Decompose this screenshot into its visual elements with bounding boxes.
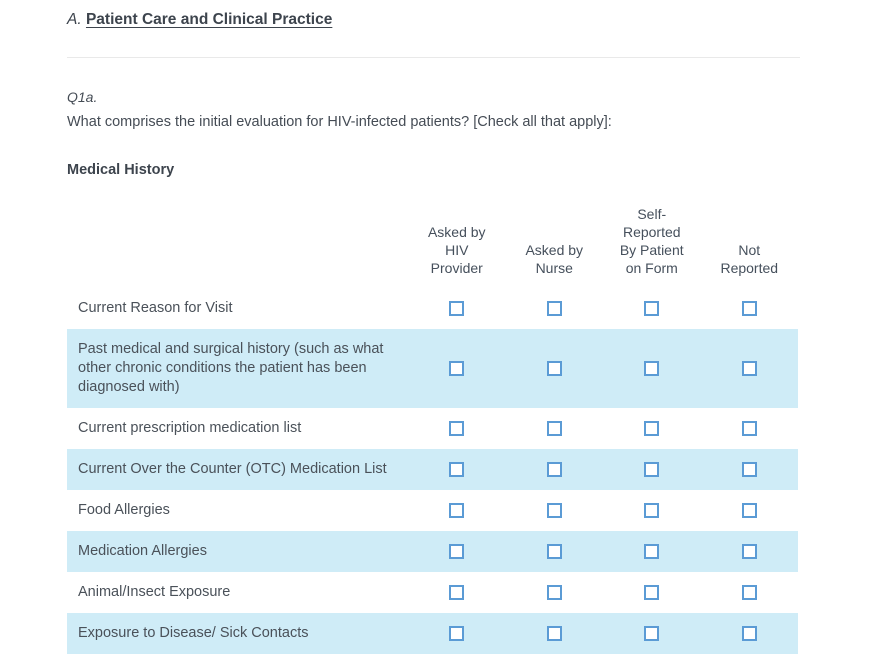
- matrix-row: Food Allergies: [67, 490, 798, 531]
- matrix-checkbox-cell[interactable]: [603, 288, 701, 329]
- matrix-checkbox-cell[interactable]: [701, 490, 799, 531]
- column-header-line: Not: [738, 242, 760, 258]
- checkbox-icon[interactable]: [547, 544, 562, 559]
- matrix-checkbox-cell[interactable]: [408, 572, 506, 613]
- matrix-checkbox-cell[interactable]: [506, 613, 604, 654]
- matrix-checkbox-cell[interactable]: [701, 572, 799, 613]
- checkbox-icon[interactable]: [644, 585, 659, 600]
- matrix-checkbox-cell[interactable]: [408, 613, 506, 654]
- survey-page: A. Patient Care and Clinical Practice Q1…: [0, 0, 874, 661]
- matrix-row: Exposure to Disease/ Sick Contacts: [67, 613, 798, 654]
- question-text: What comprises the initial evaluation fo…: [67, 112, 612, 132]
- checkbox-icon[interactable]: [742, 544, 757, 559]
- column-header-label: [67, 205, 408, 288]
- checkbox-icon[interactable]: [644, 361, 659, 376]
- checkbox-icon[interactable]: [547, 361, 562, 376]
- column-header-line: By Patient: [620, 242, 684, 258]
- matrix-row-label: Current prescription medication list: [67, 408, 408, 449]
- column-header-self-reported-by-patient-on-form: Self-ReportedBy Patienton Form: [603, 205, 701, 288]
- matrix-checkbox-cell[interactable]: [506, 572, 604, 613]
- matrix-checkbox-cell[interactable]: [408, 449, 506, 490]
- checkbox-icon[interactable]: [742, 626, 757, 641]
- matrix-checkbox-cell[interactable]: [701, 531, 799, 572]
- checkbox-icon[interactable]: [644, 301, 659, 316]
- checkbox-icon[interactable]: [644, 421, 659, 436]
- matrix-checkbox-cell[interactable]: [506, 288, 604, 329]
- checkbox-icon[interactable]: [449, 585, 464, 600]
- matrix-checkbox-cell[interactable]: [506, 531, 604, 572]
- matrix-row-label: Exposure to Disease/ Sick Contacts: [67, 613, 408, 654]
- matrix-checkbox-cell[interactable]: [701, 613, 799, 654]
- matrix-checkbox-cell[interactable]: [408, 531, 506, 572]
- matrix-row: Medication Allergies: [67, 531, 798, 572]
- checkbox-icon[interactable]: [742, 301, 757, 316]
- matrix-checkbox-cell[interactable]: [408, 490, 506, 531]
- section-heading: A. Patient Care and Clinical Practice: [67, 10, 332, 30]
- matrix-checkbox-cell[interactable]: [506, 449, 604, 490]
- column-header-line: HIV: [445, 242, 468, 258]
- checkbox-icon[interactable]: [742, 503, 757, 518]
- section-divider: [67, 57, 800, 58]
- matrix-body: Current Reason for VisitPast medical and…: [67, 288, 798, 654]
- matrix-checkbox-cell[interactable]: [603, 531, 701, 572]
- column-header-line: Nurse: [536, 260, 573, 276]
- matrix-checkbox-cell[interactable]: [506, 329, 604, 408]
- column-header-line: Asked by: [428, 224, 486, 240]
- matrix-checkbox-cell[interactable]: [603, 329, 701, 408]
- checkbox-icon[interactable]: [449, 361, 464, 376]
- matrix-row-label: Current Reason for Visit: [67, 288, 408, 329]
- matrix-row-label: Past medical and surgical history (such …: [67, 329, 408, 408]
- matrix-row-label: Current Over the Counter (OTC) Medicatio…: [67, 449, 408, 490]
- checkbox-icon[interactable]: [449, 503, 464, 518]
- matrix-checkbox-cell[interactable]: [408, 329, 506, 408]
- checkbox-icon[interactable]: [742, 421, 757, 436]
- column-header-line: Reported: [623, 224, 681, 240]
- column-header-line: Reported: [720, 260, 778, 276]
- matrix-checkbox-cell[interactable]: [701, 288, 799, 329]
- question-number: Q1a.: [67, 88, 97, 107]
- matrix-checkbox-cell[interactable]: [701, 449, 799, 490]
- matrix-checkbox-cell[interactable]: [408, 288, 506, 329]
- checkbox-icon[interactable]: [449, 421, 464, 436]
- matrix-checkbox-cell[interactable]: [603, 572, 701, 613]
- matrix-row: Current Reason for Visit: [67, 288, 798, 329]
- column-header-not-reported: NotReported: [701, 205, 799, 288]
- checkbox-icon[interactable]: [547, 421, 562, 436]
- checkbox-icon[interactable]: [547, 585, 562, 600]
- matrix-checkbox-cell[interactable]: [603, 408, 701, 449]
- checkbox-icon[interactable]: [449, 301, 464, 316]
- checkbox-icon[interactable]: [449, 462, 464, 477]
- matrix-row: Past medical and surgical history (such …: [67, 329, 798, 408]
- matrix-checkbox-cell[interactable]: [701, 329, 799, 408]
- checkbox-icon[interactable]: [547, 301, 562, 316]
- column-header-line: Asked by: [525, 242, 583, 258]
- checkbox-icon[interactable]: [547, 626, 562, 641]
- section-letter: A.: [67, 11, 82, 28]
- matrix-row: Animal/Insect Exposure: [67, 572, 798, 613]
- matrix-checkbox-cell[interactable]: [701, 408, 799, 449]
- column-header-line: Self-: [637, 206, 666, 222]
- matrix-checkbox-cell[interactable]: [603, 613, 701, 654]
- checkbox-icon[interactable]: [449, 544, 464, 559]
- checkbox-icon[interactable]: [644, 503, 659, 518]
- checkbox-icon[interactable]: [742, 462, 757, 477]
- matrix-checkbox-cell[interactable]: [408, 408, 506, 449]
- column-header-asked-by-nurse: Asked byNurse: [506, 205, 604, 288]
- checkbox-icon[interactable]: [644, 626, 659, 641]
- column-header-line: Provider: [431, 260, 483, 276]
- checkbox-icon[interactable]: [644, 544, 659, 559]
- matrix-checkbox-cell[interactable]: [603, 449, 701, 490]
- matrix-row: Current prescription medication list: [67, 408, 798, 449]
- subsection-title: Medical History: [67, 160, 174, 180]
- matrix-checkbox-cell[interactable]: [506, 408, 604, 449]
- checkbox-icon[interactable]: [547, 503, 562, 518]
- checkbox-icon[interactable]: [547, 462, 562, 477]
- column-header-asked-by-hiv-provider: Asked byHIVProvider: [408, 205, 506, 288]
- matrix-row-label: Animal/Insect Exposure: [67, 572, 408, 613]
- matrix-row: Current Over the Counter (OTC) Medicatio…: [67, 449, 798, 490]
- column-header-line: on Form: [626, 260, 678, 276]
- checkbox-icon[interactable]: [449, 626, 464, 641]
- matrix-checkbox-cell[interactable]: [603, 490, 701, 531]
- matrix-header-row: Asked byHIVProvider Asked byNurse Self-R…: [67, 205, 798, 288]
- checkbox-icon[interactable]: [742, 585, 757, 600]
- matrix-header: Asked byHIVProvider Asked byNurse Self-R…: [67, 205, 798, 288]
- matrix-checkbox-cell[interactable]: [506, 490, 604, 531]
- section-title: Patient Care and Clinical Practice: [86, 11, 332, 28]
- checkbox-icon[interactable]: [644, 462, 659, 477]
- medical-history-matrix: Asked byHIVProvider Asked byNurse Self-R…: [67, 205, 798, 654]
- matrix-row-label: Medication Allergies: [67, 531, 408, 572]
- matrix-row-label: Food Allergies: [67, 490, 408, 531]
- checkbox-icon[interactable]: [742, 361, 757, 376]
